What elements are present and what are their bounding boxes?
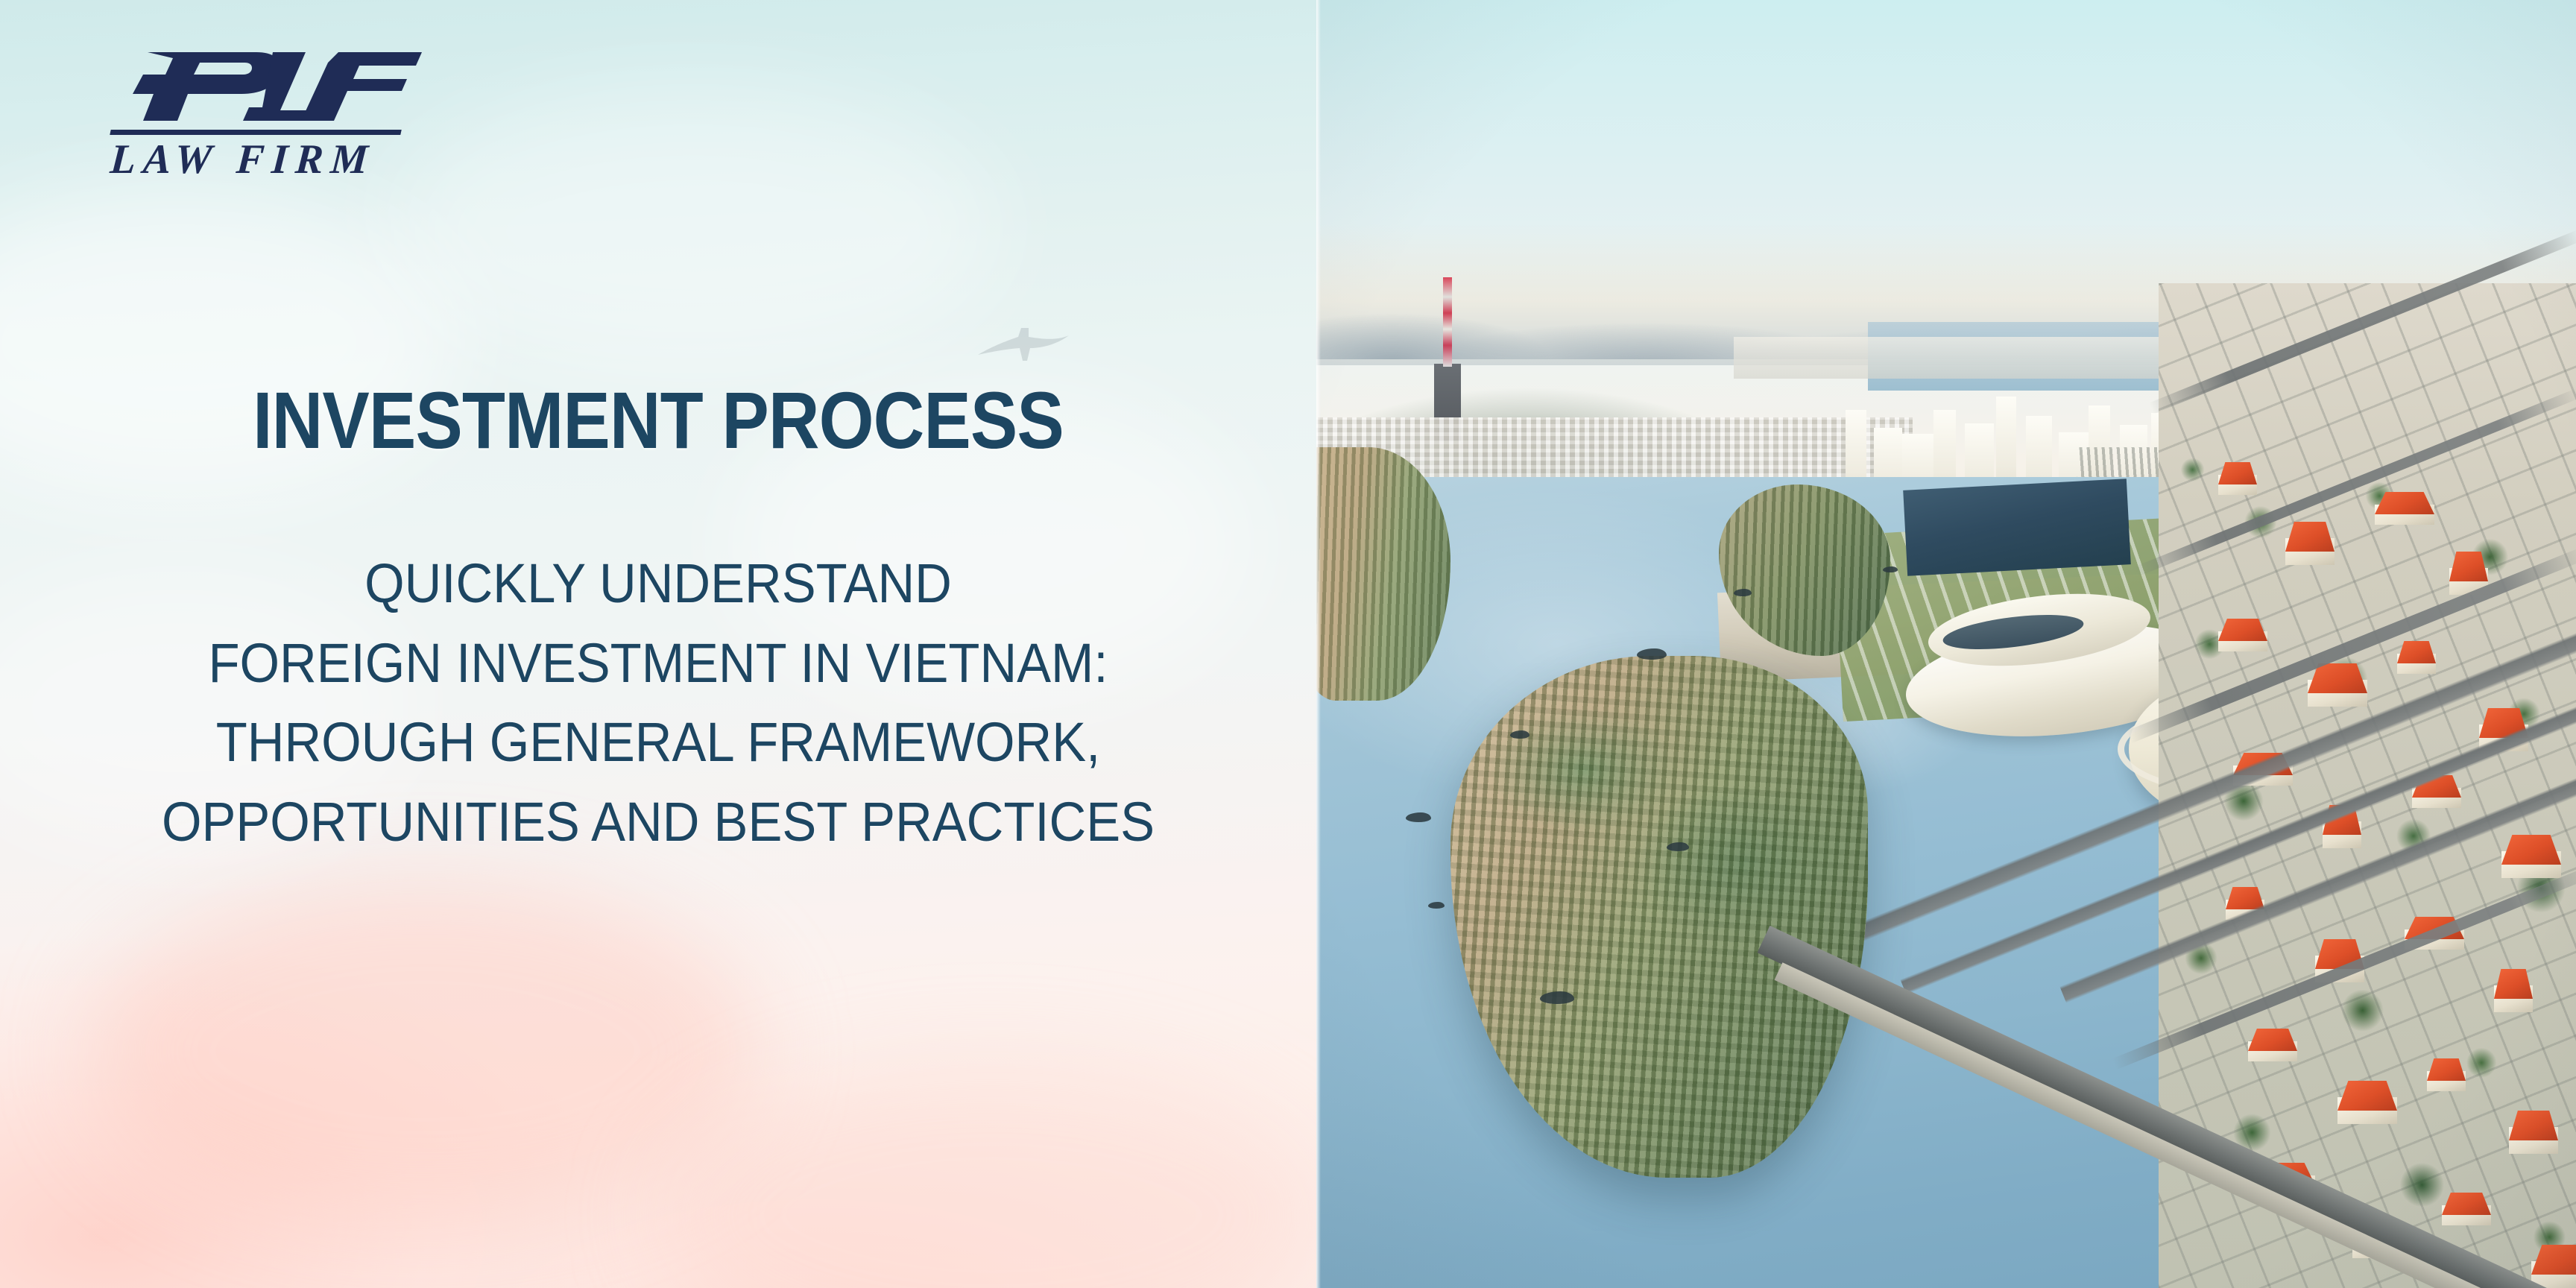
background-blob [656, 1058, 1316, 1288]
logo-subtitle: LAW FIRM [109, 139, 425, 180]
title-panel: LAW FIRM INVESTMENT PROCESS QUICKLY UNDE… [0, 0, 1316, 1288]
logo-divider-rule [110, 130, 401, 135]
flying-bird-silhouette-icon [976, 325, 1070, 367]
subtitle-line-2: FOREIGN INVESTMENT IN VIETNAM: [46, 624, 1270, 704]
aerial-view-ha-long-bay-city-photo [1316, 0, 2576, 1288]
background-blob [89, 880, 760, 1222]
subtitle-line-1: QUICKLY UNDERSTAND [46, 544, 1270, 624]
page-title: INVESTMENT PROCESS [79, 380, 1237, 461]
photo-vignette [1316, 0, 2576, 1288]
background-blob [388, 89, 999, 373]
panel-photo-seam [1316, 0, 1321, 1288]
subtitle-line-3: THROUGH GENERAL FRAMEWORK, [46, 703, 1270, 783]
subtitle-line-4: OPPORTUNITIES AND BEST PRACTICES [46, 783, 1270, 862]
plf-logo-mark-icon [110, 46, 423, 128]
presentation-slide: LAW FIRM INVESTMENT PROCESS QUICKLY UNDE… [0, 0, 2576, 1288]
page-subtitle: QUICKLY UNDERSTAND FOREIGN INVESTMENT IN… [46, 544, 1270, 862]
plf-law-firm-logo: LAW FIRM [110, 46, 423, 180]
